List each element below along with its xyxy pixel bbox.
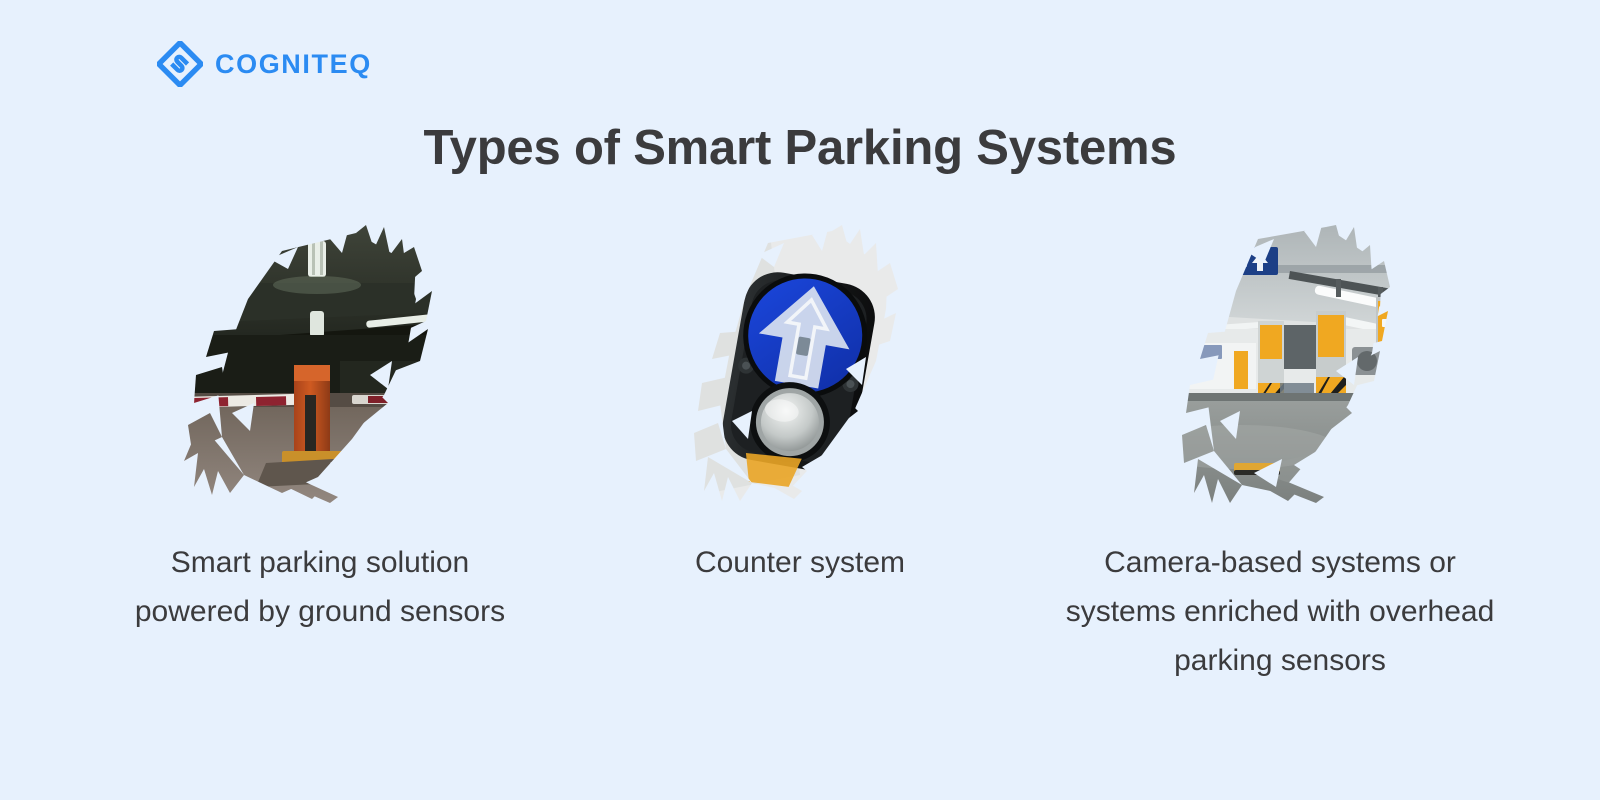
systems-columns: Smart parking solution powered by ground…: [100, 225, 1500, 685]
brand-name: COGNITEQ: [215, 51, 372, 78]
caption-counter-system: Counter system: [585, 538, 1015, 587]
caption-camera-based: Camera-based systems or systems enriched…: [1065, 538, 1495, 685]
counter-sensor-device-photo: [650, 225, 950, 505]
page-title: Types of Smart Parking Systems: [0, 120, 1600, 176]
brand-logo[interactable]: COGNITEQ: [157, 41, 372, 87]
column-counter-system: Counter system: [580, 225, 1020, 587]
column-camera-based: Camera-based systems or systems enriched…: [1060, 225, 1500, 685]
infographic-page: COGNITEQ Types of Smart Parking Systems: [0, 0, 1600, 800]
column-ground-sensors: Smart parking solution powered by ground…: [100, 225, 540, 636]
caption-ground-sensors: Smart parking solution powered by ground…: [120, 538, 520, 636]
parking-barrier-gate-photo: [170, 225, 470, 505]
modern-parking-garage-photo: [1130, 225, 1430, 505]
cogniteq-diamond-logo-icon: [157, 41, 203, 87]
